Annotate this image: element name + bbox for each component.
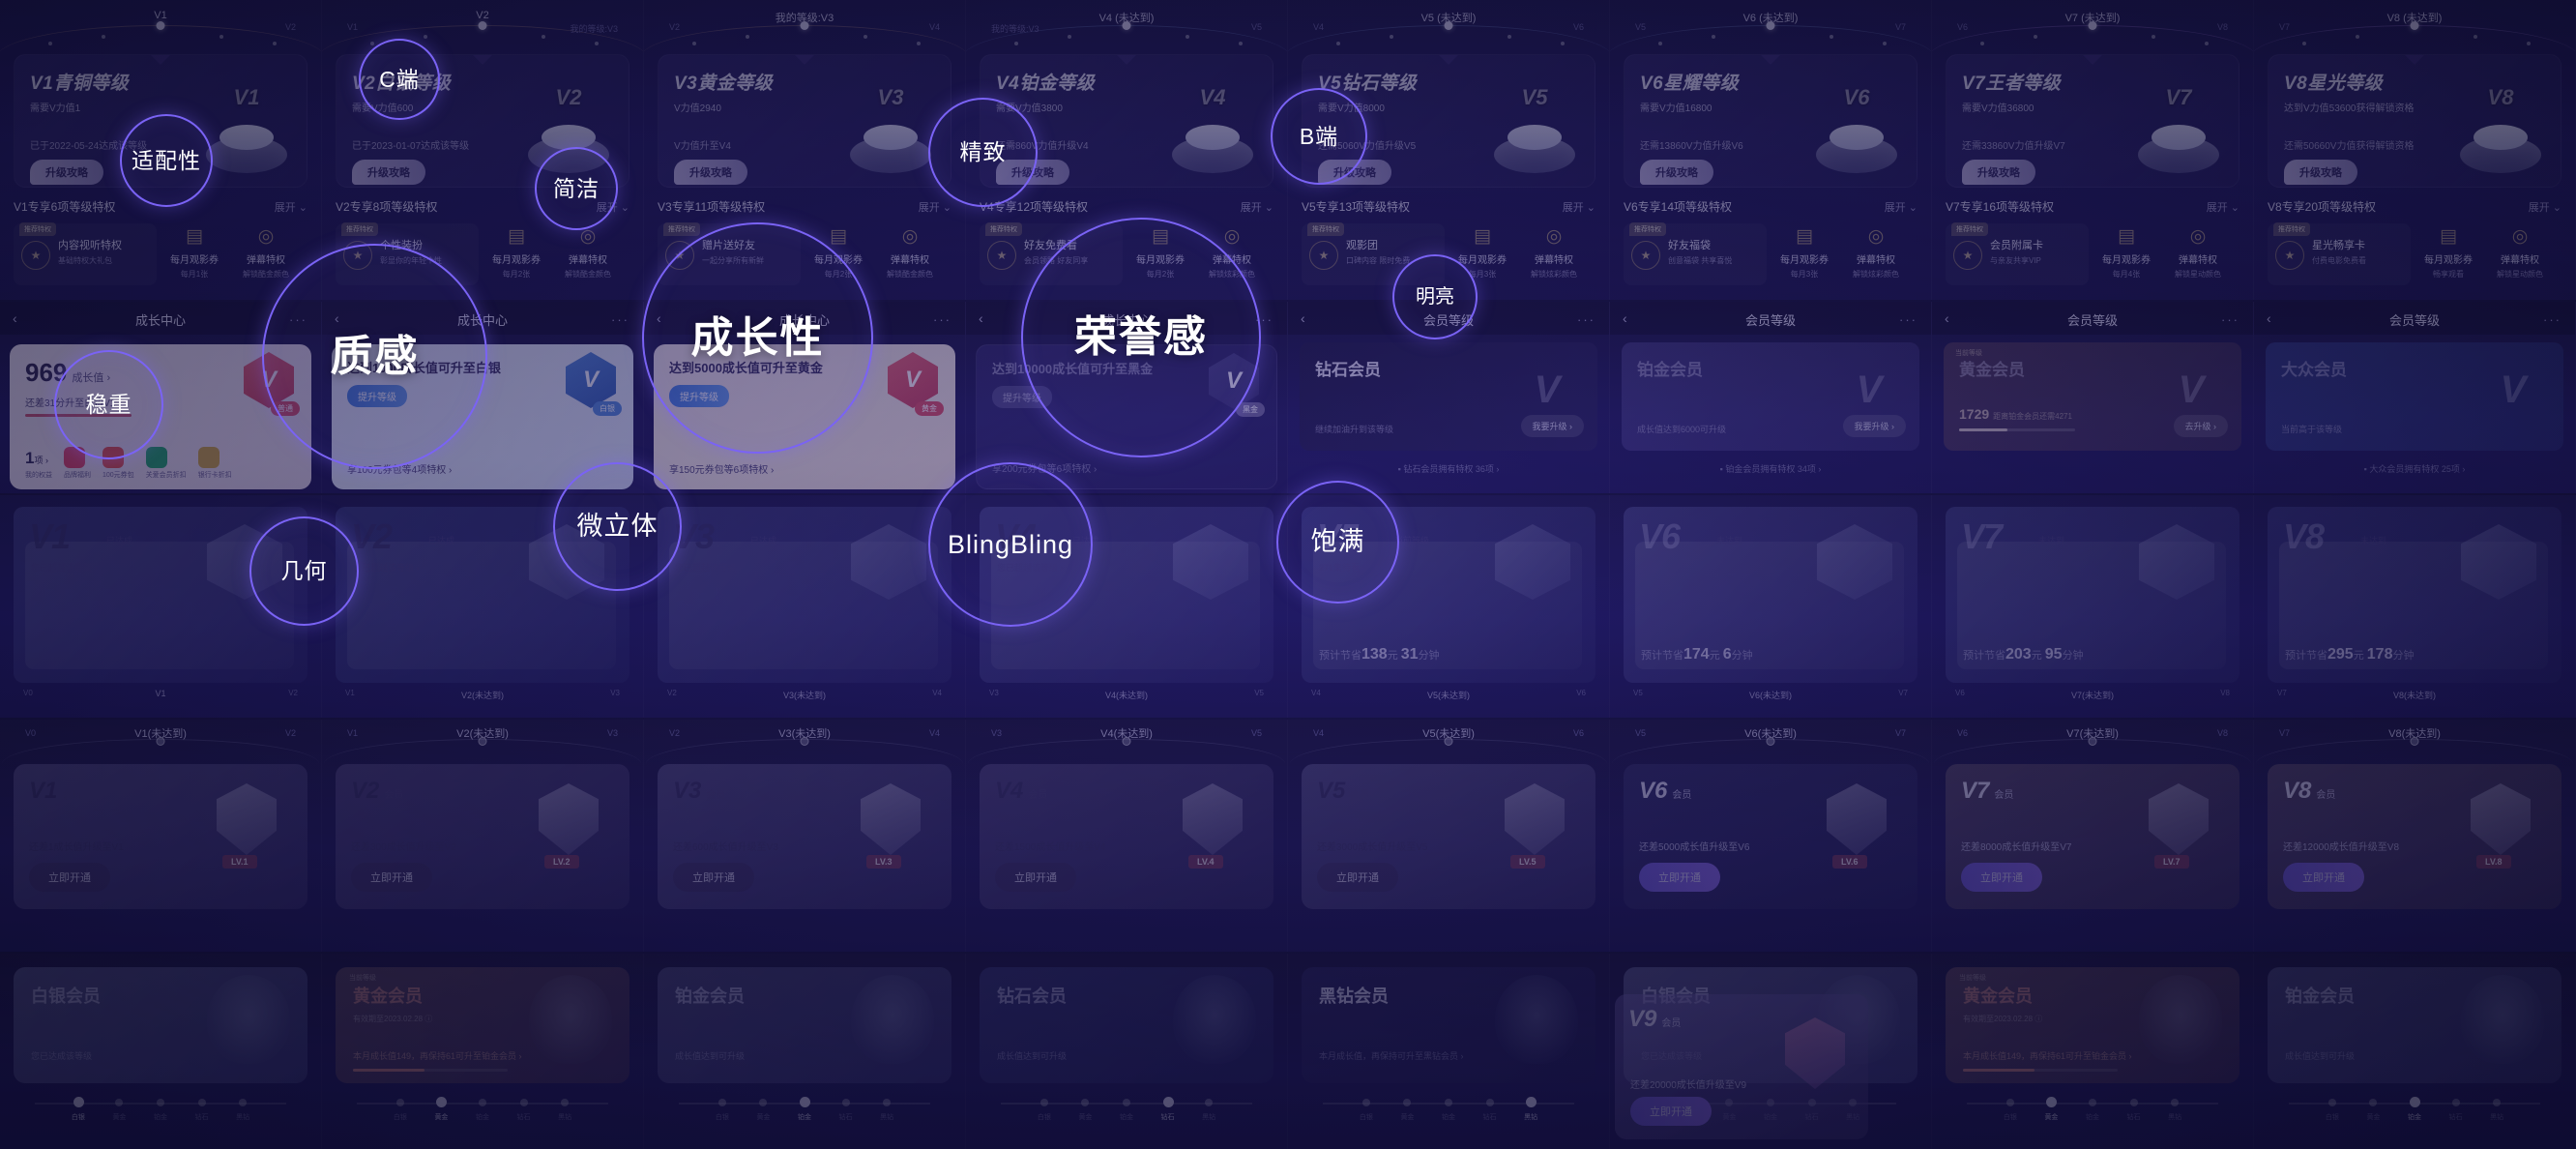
membership-screen-v3[interactable]: V2 V3(未达到) V4 V3会员 还差600成长值升级至V3 立即开通 LV… — [644, 720, 966, 952]
member-tier-note[interactable]: 成长值达到可升级 — [997, 1049, 1067, 1062]
more-menu-icon[interactable]: ··· — [611, 312, 629, 327]
axis-step-dot[interactable] — [2369, 1099, 2377, 1106]
axis-step-dot[interactable] — [1445, 1099, 1452, 1106]
annotation-zhigan: 质感 — [262, 244, 487, 469]
crest-shield-icon — [1827, 783, 1887, 855]
axis-step-dot[interactable] — [436, 1097, 447, 1107]
axis-step-dot[interactable] — [561, 1099, 569, 1106]
level-info-card: V6星耀等级 需要V力值16800 还需13860V力值升级V6 升级攻略 V6 — [1624, 54, 1917, 188]
privilege-name: 每月观影券 — [1771, 251, 1838, 266]
activate-button[interactable]: 立即开通 — [1639, 863, 1720, 892]
member-progress-bar — [1959, 428, 2075, 431]
membership-suffix: 会员 — [1672, 790, 1691, 801]
membership-screen-v6[interactable]: V5 V6(未达到) V7 V6会员 还差5000成长值升级至V6 立即开通 L… — [1610, 720, 1932, 952]
axis-tick-left: V2 — [667, 689, 677, 697]
privilege-featured[interactable]: 推荐特权 ★ 内容视听特权 基础特权大礼包 — [14, 223, 157, 285]
privilege-name: 会员附属卡 — [1990, 237, 2083, 252]
tier-emblem-icon: V — [1834, 348, 1904, 431]
level-axis: V0 V1 V2 — [14, 689, 307, 710]
annotation-label: 简洁 — [553, 178, 600, 200]
annotation-cduan: C端 — [359, 39, 440, 120]
axis-step-dot[interactable] — [479, 1099, 486, 1106]
privilege-recommend-tag: 推荐特权 — [19, 222, 56, 236]
member-tier-screen[interactable]: 钻石会员 成长值达到可升级 白银 黄金 铂金 钻石 黑钻 — [966, 954, 1288, 1149]
level-axis: V5 V6(未达到) V7 — [1624, 689, 1917, 710]
member-tier-note[interactable]: 本月成长值149，再保持61可升至铂金会员 › — [353, 1049, 522, 1062]
level-tick-right: 我的等级:V3 — [570, 22, 618, 35]
tier-step-axis: 白银 黄金 铂金 钻石 黑钻 — [2268, 1097, 2561, 1126]
member-tier-screen[interactable]: 铂金会员 成长值达到可升级 白银 黄金 铂金 钻石 黑钻 — [2254, 954, 2576, 1149]
membership-screen-v2[interactable]: V1 V2(未达到) V3 V2会员 还差300成长值升级至V2 立即开通 LV… — [322, 720, 644, 952]
axis-step-dot[interactable] — [73, 1097, 84, 1107]
activate-button[interactable]: 立即开通 — [673, 863, 754, 892]
axis-step-dot[interactable] — [800, 1097, 810, 1107]
annotation-jihe: 几何 — [249, 516, 359, 626]
axis-tick-left: V3 — [989, 689, 999, 697]
privilege-header: V5专享13项等级特权 展开 ⌄ — [1302, 198, 1595, 215]
crest-level-label: LV.4 — [1188, 855, 1223, 869]
upgrade-guide-button[interactable]: 升级攻略 — [30, 160, 103, 185]
tier-step-axis: 白银 黄金 铂金 钻石 黑钻 — [14, 1097, 307, 1126]
tier-heart-icon — [2461, 975, 2544, 1064]
membership-crest — [1775, 1012, 1859, 1118]
big-level-screen-v6[interactable]: V6 未达到 预计节省174元 6分钟 V5 V6(未达到) V7 — [1610, 495, 1932, 718]
crest-shield-icon — [2471, 783, 2531, 855]
privilege-name: 弹幕特权 — [1520, 251, 1588, 266]
privilege-featured[interactable]: 推荐特权 ★ 星光畅享卡 付费电影免费看 — [2268, 223, 2411, 285]
medal-label: 黄金 — [915, 401, 944, 416]
privilege-list: 推荐特权 ★ 好友福袋 创意福袋 共享喜悦 ▤ 每月观影券 每月3张 ◎ 弹幕特… — [1624, 223, 1917, 285]
axis-step-label: 黑钻 — [1524, 1112, 1537, 1122]
axis-center-label: V6(未达到) — [1744, 725, 1797, 741]
member-tier-note[interactable]: 您已达成该等级 — [31, 1049, 92, 1062]
danmaku-icon: ◎ — [554, 227, 622, 246]
axis-step-dot[interactable] — [1526, 1097, 1537, 1107]
back-icon[interactable]: ‹ — [1945, 310, 1949, 326]
crest-shield-icon — [1183, 783, 1243, 855]
back-icon[interactable]: ‹ — [1623, 310, 1627, 326]
membership-suffix: 会员 — [2316, 790, 2335, 801]
crest-shield-icon — [2149, 783, 2209, 855]
membership-screen-v7[interactable]: V6 V7(未达到) V8 V7会员 还差8000成长值升级至V7 立即开通 L… — [1932, 720, 2254, 952]
privilege-featured[interactable]: 推荐特权 ★ 会员附属卡 与亲友共享VIP — [1946, 223, 2089, 285]
more-menu-icon[interactable]: ··· — [933, 312, 951, 327]
activate-button[interactable]: 立即开通 — [1961, 863, 2042, 892]
privilege-name: 弹幕特权 — [876, 251, 944, 266]
annotation-label: BlingBling — [948, 532, 1073, 558]
privilege-item[interactable]: ▤ 每月观影券 每月4张 — [2093, 223, 2160, 280]
estimated-saving: 预计节省138元 31分钟 — [1319, 646, 1440, 663]
axis-tick-right: V2 — [288, 689, 298, 697]
axis-step-label: 铂金 — [2408, 1112, 2421, 1122]
privilege-item[interactable]: ▤ 每月观影券 每月1张 — [161, 223, 228, 280]
axis-tick-left: V6 — [1955, 689, 1965, 697]
privilege-featured[interactable]: 推荐特权 ★ 好友福袋 创意福袋 共享喜悦 — [1624, 223, 1767, 285]
level-code: V1 — [29, 516, 70, 557]
back-icon[interactable]: ‹ — [2267, 310, 2271, 326]
membership-screen-v9[interactable]: V9会员 还差20000成长值升级至V9 立即开通 — [1615, 994, 1868, 1139]
upgrade-guide-button[interactable]: 升级攻略 — [1962, 160, 2035, 185]
member-level-screen[interactable]: ‹ 会员等级 ··· 大众会员 当前高于该等级 V ▪ 大众会员拥有特权 25项… — [2254, 302, 2576, 493]
privilege-list: 推荐特权 ★ 会员附属卡 与亲友共享VIP ▤ 每月观影券 每月4张 ◎ 弹幕特… — [1946, 223, 2239, 285]
privilege-item[interactable]: ◎ 弹幕特权 解锁炫彩颜色 — [1842, 223, 1910, 280]
axis-step-dot[interactable] — [157, 1099, 164, 1106]
axis-step-dot[interactable] — [1123, 1099, 1130, 1106]
level-state-label: 已达成 — [428, 534, 454, 546]
membership-requirement: 还差1成长值升级至V1 — [29, 839, 124, 853]
current-tier-tag: 当前等级 — [349, 973, 376, 983]
axis-step-dot[interactable] — [396, 1099, 404, 1106]
axis-step-dot[interactable] — [1040, 1099, 1048, 1106]
tier-progress-bar — [1963, 1069, 2118, 1072]
annotation-label: 精致 — [960, 141, 1007, 163]
axis-tick-left: V7 — [2279, 728, 2290, 738]
level-state-label: 已达成 — [750, 534, 776, 546]
privilege-item[interactable]: ◎ 弹幕特权 解锁酷金颜色 — [554, 223, 622, 280]
axis-step-label: 钻石 — [1161, 1112, 1175, 1122]
axis-step-dot[interactable] — [520, 1099, 528, 1106]
annotation-label: 几何 — [281, 560, 328, 582]
member-tier-screen[interactable]: 白银会员 您已达成该等级 白银 黄金 铂金 钻石 黑钻 — [0, 954, 322, 1149]
privilege-recommend-tag: 推荐特权 — [1629, 222, 1666, 236]
nav-title: 会员等级 — [2389, 310, 2440, 329]
privilege-item[interactable]: ◎ 弹幕特权 解锁酷金颜色 — [232, 223, 300, 280]
axis-step-dot[interactable] — [1486, 1099, 1494, 1106]
axis-center-label: V8(未达到) — [2393, 689, 2436, 701]
more-menu-icon[interactable]: ··· — [2221, 312, 2239, 327]
saving-amount: 295 — [2327, 646, 2354, 663]
activate-button[interactable]: 立即开通 — [995, 863, 1076, 892]
privilege-recommend-tag: 推荐特权 — [341, 222, 378, 236]
privilege-desc: 解锁炫彩颜色 — [1842, 269, 1910, 280]
membership-screen-v5[interactable]: V4 V5(未达到) V6 V5会员 还差3000成长值升级至V5 立即开通 L… — [1288, 720, 1610, 952]
privilege-header: V7专享16项等级特权 展开 ⌄ — [1946, 198, 2239, 215]
axis-step-label: 黄金 — [1078, 1112, 1092, 1122]
benefit-chip-label: 100元券包 — [102, 470, 134, 480]
level-info-card: V7王者等级 需要V力值36800 还需33860V力值升级V7 升级攻略 V7 — [1946, 54, 2239, 188]
privilege-recommend-tag: 推荐特权 — [1951, 222, 1988, 236]
axis-tick-right: V2 — [285, 728, 296, 738]
big-level-screen-v8[interactable]: V8 未达到 预计节省295元 178分钟 V7 V8(未达到) — [2254, 495, 2576, 718]
privilege-icon: ★ — [1953, 241, 1982, 270]
big-level-screen-v3[interactable]: V3 已达成 您已超越该等级 › V2 V3(未达到) V4 — [644, 495, 966, 718]
tier-progress-bar — [353, 1069, 508, 1072]
level-axis: V4 V5(未达到) V6 — [1302, 725, 1595, 764]
axis-step-dot[interactable] — [239, 1099, 247, 1106]
member-tier-screen[interactable]: 当前等级 黄金会员 有效期至2023.02.28 ⓘ 本月成长值149，再保持6… — [322, 954, 644, 1149]
level-tick-right: V7 — [1895, 22, 1906, 32]
axis-step-label: 黄金 — [2366, 1112, 2380, 1122]
membership-suffix: 会员 — [1994, 790, 2013, 801]
member-tier-screen[interactable]: 铂金会员 成长值达到可升级 白银 黄金 铂金 钻石 黑钻 — [644, 954, 966, 1149]
annotation-label: 适配性 — [132, 150, 201, 172]
privilege-expand-button[interactable]: 展开 ⌄ — [2529, 199, 2561, 215]
axis-step-dot[interactable] — [2046, 1097, 2057, 1107]
danmaku-icon: ◎ — [1520, 227, 1588, 246]
back-icon[interactable]: ‹ — [979, 310, 983, 326]
level-hint-link[interactable]: 您已超越该等级 › — [31, 561, 98, 574]
medal-hex-icon: V — [888, 352, 938, 408]
privilege-desc: 解锁星动颜色 — [2486, 269, 2554, 280]
tier-step-axis: 白银 黄金 铂金 钻石 黑钻 — [658, 1097, 951, 1126]
axis-step-label: 黄金 — [112, 1112, 126, 1122]
axis-step-dot[interactable] — [1205, 1099, 1213, 1106]
more-menu-icon[interactable]: ··· — [2543, 312, 2561, 327]
member-tier-card: 当前等级 黄金会员 有效期至2023.02.28 ⓘ 本月成长值149，再保持6… — [1946, 967, 2239, 1083]
membership-crest: LV.6 — [1817, 778, 1900, 884]
privilege-item[interactable]: ▤ 每月观影券 每月2张 — [483, 223, 550, 280]
level-tick-left: V6 — [1957, 22, 1968, 32]
level-state-label: 未达到 — [2360, 534, 2386, 546]
member-level-screen[interactable]: ‹ 会员等级 ··· 铂金会员 成长值达到6000可升级 我要升级 › V ▪ … — [1610, 302, 1932, 493]
privilege-name: 每月观影券 — [483, 251, 550, 266]
axis-step-dot[interactable] — [2130, 1099, 2138, 1106]
member-tier-note[interactable]: 本月成长值，再保持可升至黑钻会员 › — [1319, 1049, 1464, 1062]
back-icon[interactable]: ‹ — [1301, 310, 1305, 326]
member-tier-note: 继续加油升到该等级 — [1315, 423, 1393, 435]
privilege-list: 推荐特权 ★ 星光畅享卡 付费电影免费看 ▤ 每月观影券 畅享观看 ◎ 弹幕特权… — [2268, 223, 2561, 285]
axis-tick-right: V3 — [610, 689, 620, 697]
axis-step-label: 钻石 — [517, 1112, 531, 1122]
axis-step-label: 铂金 — [476, 1112, 489, 1122]
benefit-chip-label: 银行卡折扣 — [198, 470, 232, 480]
tier-medal: V 黄金 — [882, 350, 944, 422]
axis-step-dot[interactable] — [2006, 1099, 2014, 1106]
level-axis: V3 V4(未达到) V5 — [980, 689, 1273, 710]
danmaku-icon: ◎ — [876, 227, 944, 246]
danmaku-icon: ◎ — [1842, 227, 1910, 246]
axis-step-dot[interactable] — [842, 1099, 850, 1106]
level-axis: V1 V2(未达到) V3 — [336, 725, 629, 764]
axis-step-dot[interactable] — [1163, 1097, 1174, 1107]
axis-step-label: 钻石 — [1483, 1112, 1497, 1122]
member-tier-card: 当前等级 黄金会员 有效期至2023.02.28 ⓘ 本月成长值149，再保持6… — [336, 967, 629, 1083]
privilege-desc: 每月2张 — [483, 269, 550, 280]
arc-minor-dots — [1946, 32, 2239, 36]
level-header-label: 我的等级:V3 — [776, 10, 834, 25]
level-info-card: V8星光等级 达到V力值53600获得解锁资格 还需50660V力值获得解锁资格… — [2268, 54, 2561, 188]
annotation-label: B端 — [1300, 126, 1338, 148]
axis-step-label: 黄金 — [1400, 1112, 1414, 1122]
privilege-expand-button[interactable]: 展开 ⌄ — [1885, 199, 1917, 215]
annotation-chengzhangxing: 成长性 — [642, 222, 873, 454]
axis-step-dot[interactable] — [2089, 1099, 2096, 1106]
tier-step-axis: 白银 黄金 铂金 钻石 黑钻 — [980, 1097, 1273, 1126]
level-tick-right: V5 — [1251, 22, 1262, 32]
level-hint-link[interactable]: 您已超越该等级 › — [353, 561, 420, 574]
ticket-icon: ▤ — [2093, 227, 2160, 246]
crest-shield-icon — [217, 783, 277, 855]
level-header-label: V5 (未达到) — [1421, 10, 1477, 25]
privilege-item[interactable]: ▤ 每月观影券 每月3张 — [1771, 223, 1838, 280]
axis-step-label: 黑钻 — [2490, 1112, 2503, 1122]
axis-tick-right: V6 — [1573, 728, 1584, 738]
upgrade-guide-button[interactable]: 升级攻略 — [2284, 160, 2357, 185]
axis-step-dot[interactable] — [2410, 1097, 2420, 1107]
member-tier-screen[interactable]: 黑钻会员 本月成长值，再保持可升至黑钻会员 › 白银 黄金 铂金 钻石 黑钻 — [1288, 954, 1610, 1149]
ticket-icon: ▤ — [1449, 227, 1516, 246]
current-tier-tag: 当前等级 — [1955, 348, 1982, 358]
level-header-label: V8 (未达到) — [2387, 10, 2443, 25]
tier-heart-icon — [2139, 975, 2222, 1064]
level-screen-v7[interactable]: V7 (未达到) V6 V8 V7王者等级 需要V力值36800 还需33860… — [1932, 0, 2254, 300]
tier-privilege-link[interactable]: ▪ 钻石会员拥有特权 36项 › — [1288, 462, 1609, 475]
membership-requirement: 还差300成长值升级至V2 — [351, 839, 456, 853]
privilege-expand-button[interactable]: 展开 ⌄ — [919, 199, 951, 215]
nav-title: 会员等级 — [2067, 310, 2118, 329]
privilege-item[interactable]: ◎ 弹幕特权 解锁炫彩颜色 — [1520, 223, 1588, 280]
membership-screen-v4[interactable]: V3 V4(未达到) V5 V4会员 还差1500成长值升级至V4 立即开通 L… — [966, 720, 1288, 952]
axis-step-label: 白银 — [72, 1112, 85, 1122]
arc-minor-dots — [1624, 32, 1917, 36]
membership-screen-v1[interactable]: V0 V1(未达到) V2 V1会员 还差1成长值升级至V1 立即开通 LV.1 — [0, 720, 322, 952]
upgrade-guide-button[interactable]: 升级攻略 — [674, 160, 747, 185]
more-menu-icon[interactable]: ··· — [1577, 312, 1595, 327]
tier-step-axis: 白银 黄金 铂金 钻石 黑钻 — [336, 1097, 629, 1126]
level-info-card: V3黄金等级 V力值2940 V力值升至V4 升级攻略 V3 — [658, 54, 951, 188]
upgrade-guide-button[interactable]: 升级攻略 — [1640, 160, 1713, 185]
activate-button[interactable]: 立即开通 — [2283, 863, 2364, 892]
level-hint-link[interactable]: 您已超越该等级 › — [675, 561, 742, 574]
privilege-item[interactable]: ▤ 每月观影券 畅享观看 — [2415, 223, 2482, 280]
axis-step-label: 钻石 — [2449, 1112, 2463, 1122]
axis-center-label: V1(未达到) — [134, 725, 187, 741]
level-tick-left: V1 — [347, 22, 358, 32]
membership-crest: LV.5 — [1495, 778, 1578, 884]
privilege-header: V6专享14项等级特权 展开 ⌄ — [1624, 198, 1917, 215]
axis-step-label: 黑钻 — [880, 1112, 893, 1122]
axis-center-label: V7(未达到) — [2071, 689, 2114, 701]
axis-step-label: 黄金 — [2044, 1112, 2058, 1122]
privilege-recommend-tag: 推荐特权 — [985, 222, 1022, 236]
privilege-item[interactable]: ◎ 弹幕特权 解锁酷金颜色 — [876, 223, 944, 280]
membership-card: V6会员 还差5000成长值升级至V6 立即开通 LV.6 — [1624, 764, 1917, 909]
axis-step-label: 钻石 — [195, 1112, 209, 1122]
annotation-label: 荣誉感 — [1074, 316, 1208, 359]
back-icon[interactable]: ‹ — [13, 310, 17, 326]
member-level-screen[interactable]: ‹ 会员等级 ··· 当前等级 黄金会员 1729距离铂金会员还需4271 去升… — [1932, 302, 2254, 493]
level-screen-v6[interactable]: V6 (未达到) V5 V7 V6星耀等级 需要V力值16800 还需13860… — [1610, 0, 1932, 300]
axis-center-label: V5(未达到) — [1427, 689, 1470, 701]
axis-step-dot[interactable] — [1403, 1099, 1411, 1106]
saving-amount: 203 — [2005, 646, 2032, 663]
benefit-chip[interactable]: 银行卡折扣 — [198, 447, 232, 480]
member-tier-card: 铂金会员 成长值达到可升级 — [2268, 967, 2561, 1083]
level-screen-v8[interactable]: V8 (未达到) V7 V8星光等级 达到V力值53600获得解锁资格 还需50… — [2254, 0, 2576, 300]
activate-button[interactable]: 立即开通 — [351, 863, 432, 892]
ticket-icon: ▤ — [2415, 227, 2482, 246]
privilege-desc: 解锁星动颜色 — [2164, 269, 2232, 280]
annotation-label: C端 — [379, 69, 420, 91]
privilege-expand-button[interactable]: 展开 ⌄ — [1241, 199, 1273, 215]
axis-tick-left: V4 — [1311, 689, 1321, 697]
big-level-screen-v7[interactable]: V7 未达到 预计节省203元 95分钟 V6 V7(未达到) V8 — [1932, 495, 2254, 718]
privilege-expand-button[interactable]: 展开 ⌄ — [275, 199, 307, 215]
member-tier-note[interactable]: 成长值达到可升级 — [2285, 1049, 2355, 1062]
membership-screen-v8[interactable]: V7 V8(未达到) V8会员 还差12000成长值升级至V8 立即开通 LV.… — [2254, 720, 2576, 952]
axis-step-dot[interactable] — [2493, 1099, 2501, 1106]
privilege-desc: 每月3张 — [1771, 269, 1838, 280]
ticket-icon: ▤ — [483, 227, 550, 246]
axis-step-dot[interactable] — [115, 1099, 123, 1106]
badge-plinth — [1494, 136, 1575, 173]
privilege-icon: ★ — [2275, 241, 2304, 270]
axis-step-label: 铂金 — [1442, 1112, 1455, 1122]
more-menu-icon[interactable]: ··· — [1899, 312, 1917, 327]
axis-tick-left: V4 — [1313, 728, 1324, 738]
benefit-chip[interactable]: 关爱会员折扣 — [146, 447, 187, 480]
axis-tick-left: V6 — [1957, 728, 1968, 738]
axis-step-dot[interactable] — [2452, 1099, 2460, 1106]
privilege-name: 星光畅享卡 — [2312, 237, 2405, 252]
axis-step-dot[interactable] — [2328, 1099, 2336, 1106]
axis-tick-right: V7 — [1895, 728, 1906, 738]
member-tier-note[interactable]: 本月成长值149，再保持61可升至铂金会员 › — [1963, 1049, 2132, 1062]
member-tier-note[interactable]: 成长值达到可升级 — [675, 1049, 745, 1062]
axis-step-label: 黑钻 — [558, 1112, 571, 1122]
upgrade-guide-button[interactable]: 升级攻略 — [352, 160, 425, 185]
axis-step-dot[interactable] — [1362, 1099, 1370, 1106]
axis-step-label: 黑钻 — [1202, 1112, 1215, 1122]
axis-step-dot[interactable] — [883, 1099, 891, 1106]
axis-step-label: 铂金 — [1120, 1112, 1133, 1122]
privilege-item[interactable]: ◎ 弹幕特权 解锁星动颜色 — [2486, 223, 2554, 280]
level-badge-glyph: V5 — [1500, 63, 1569, 133]
activate-button[interactable]: 立即开通 — [1317, 863, 1398, 892]
saving-minutes: 95 — [2045, 646, 2063, 663]
membership-crest: LV.8 — [2461, 778, 2544, 884]
privilege-expand-button[interactable]: 展开 ⌄ — [2207, 199, 2239, 215]
screen-nav-bar: ‹ 会员等级 ··· — [1610, 302, 1931, 335]
screen-nav-bar: ‹ 会员等级 ··· — [2254, 302, 2575, 335]
level-badge-3d: V6 — [1812, 63, 1901, 177]
axis-tick-right: V4 — [932, 689, 942, 697]
tier-benefit-link[interactable]: 享150元券包等6项特权 › — [669, 461, 774, 476]
axis-tick-right: V5 — [1251, 728, 1262, 738]
axis-tick-left: V5 — [1633, 689, 1643, 697]
axis-step-dot[interactable] — [759, 1099, 767, 1106]
current-level-dot — [479, 21, 487, 30]
badge-plinth — [206, 136, 287, 173]
crest-shield-icon — [539, 783, 599, 855]
level-progress-arc: V7 (未达到) V6 V8 — [1946, 8, 2239, 54]
tier-privilege-link[interactable]: ▪ 大众会员拥有特权 25项 › — [2254, 462, 2575, 475]
privilege-item[interactable]: ◎ 弹幕特权 解锁星动颜色 — [2164, 223, 2232, 280]
level-code: V6 — [1639, 516, 1680, 557]
activate-button[interactable]: 立即开通 — [29, 863, 110, 892]
saving-minutes: 6 — [1723, 646, 1732, 663]
privilege-expand-button[interactable]: 展开 ⌄ — [1563, 199, 1595, 215]
privilege-header: V3专享11项等级特权 展开 ⌄ — [658, 198, 951, 215]
axis-step-dot[interactable] — [1081, 1099, 1089, 1106]
axis-step-dot[interactable] — [198, 1099, 206, 1106]
tier-privilege-link[interactable]: ▪ 铂金会员拥有特权 34项 › — [1610, 462, 1931, 475]
privilege-icon: ★ — [1631, 241, 1660, 270]
annotation-label: 明亮 — [1416, 287, 1454, 307]
activate-button[interactable]: 立即开通 — [1630, 1097, 1712, 1126]
axis-step-dot[interactable] — [2171, 1099, 2179, 1106]
member-tier-card: 铂金会员 成长值达到6000可升级 我要升级 › V — [1622, 342, 1919, 451]
member-tier-screen[interactable]: 当前等级 黄金会员 有效期至2023.02.28 ⓘ 本月成长值149，再保持6… — [1932, 954, 2254, 1149]
axis-tick-left: V3 — [991, 728, 1002, 738]
tier-step-axis: 白银 黄金 铂金 钻石 黑钻 — [1946, 1097, 2239, 1126]
row-member-tier-cards: 白银会员 您已达成该等级 白银 黄金 铂金 钻石 黑钻 当前等级 黄金会员 — [0, 954, 2576, 1149]
membership-requirement: 还差5000成长值升级至V6 — [1639, 839, 1749, 853]
membership-suffix: 会员 — [1350, 790, 1369, 801]
axis-tick-right: V8 — [2220, 689, 2230, 697]
axis-step-dot[interactable] — [718, 1099, 726, 1106]
moodboard-stage: V1 V2 V1青铜等级 需要V力值1 已于2022-05-24达成该等级 升级… — [0, 0, 2576, 1149]
